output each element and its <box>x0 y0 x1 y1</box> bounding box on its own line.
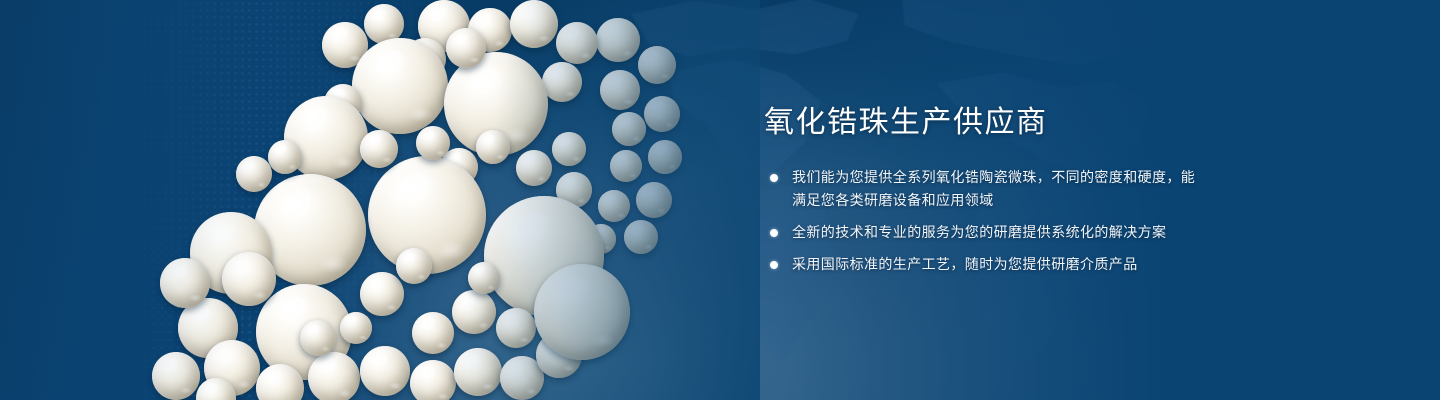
list-item: 全新的技术和专业的服务为您的研磨提供系统化的解决方案 <box>764 221 1204 244</box>
bead <box>638 46 676 84</box>
bullet-icon <box>770 174 778 182</box>
zirconia-bead-cluster <box>0 0 760 400</box>
bead <box>452 290 496 334</box>
bead <box>454 348 502 396</box>
bead <box>624 220 658 254</box>
bead <box>598 190 630 222</box>
bead <box>360 272 404 316</box>
list-item: 采用国际标准的生产工艺，随时为您提供研磨介质产品 <box>764 253 1204 276</box>
list-item-label: 全新的技术和专业的服务为您的研磨提供系统化的解决方案 <box>792 224 1166 240</box>
bead <box>308 352 360 400</box>
bead <box>412 312 454 354</box>
bead <box>268 140 302 174</box>
bead <box>516 150 552 186</box>
bead <box>600 70 640 110</box>
bead <box>360 346 410 396</box>
bead <box>360 130 398 168</box>
bead <box>510 0 558 48</box>
bead <box>416 126 450 160</box>
bead <box>596 18 640 62</box>
list-item: 我们能为您提供全系列氧化锆陶瓷微珠，不同的密度和硬度，能满足您各类研磨设备和应用… <box>764 166 1204 212</box>
bead <box>496 308 536 348</box>
bead <box>636 182 672 218</box>
bead <box>410 360 456 400</box>
bead <box>446 28 486 68</box>
bullet-icon <box>770 229 778 237</box>
bead <box>552 132 586 166</box>
list-item-label: 采用国际标准的生产工艺，随时为您提供研磨介质产品 <box>792 256 1138 272</box>
page-title: 氧化锆珠生产供应商 <box>764 108 1204 138</box>
bead <box>612 112 646 146</box>
hero-banner: 氧化锆珠生产供应商 我们能为您提供全系列氧化锆陶瓷微珠，不同的密度和硬度，能满足… <box>0 0 1440 400</box>
feature-list: 我们能为您提供全系列氧化锆陶瓷微珠，不同的密度和硬度，能满足您各类研磨设备和应用… <box>764 166 1204 276</box>
bead-large <box>534 264 630 360</box>
bead-large <box>352 38 448 134</box>
bead <box>468 262 500 294</box>
bead <box>556 22 598 64</box>
banner-content: 氧化锆珠生产供应商 我们能为您提供全系列氧化锆陶瓷微珠，不同的密度和硬度，能满足… <box>764 108 1204 276</box>
bead <box>542 62 582 102</box>
bead <box>152 352 200 400</box>
bead <box>222 252 276 306</box>
bullet-icon <box>770 261 778 269</box>
bead <box>610 150 642 182</box>
bead <box>236 156 272 192</box>
bead <box>340 312 372 344</box>
bead <box>300 320 336 356</box>
bead <box>476 130 510 164</box>
list-item-label: 我们能为您提供全系列氧化锆陶瓷微珠，不同的密度和硬度，能满足您各类研磨设备和应用… <box>792 169 1195 208</box>
bead <box>644 96 680 132</box>
bead <box>648 140 682 174</box>
bead <box>160 258 210 308</box>
bead <box>396 248 432 284</box>
